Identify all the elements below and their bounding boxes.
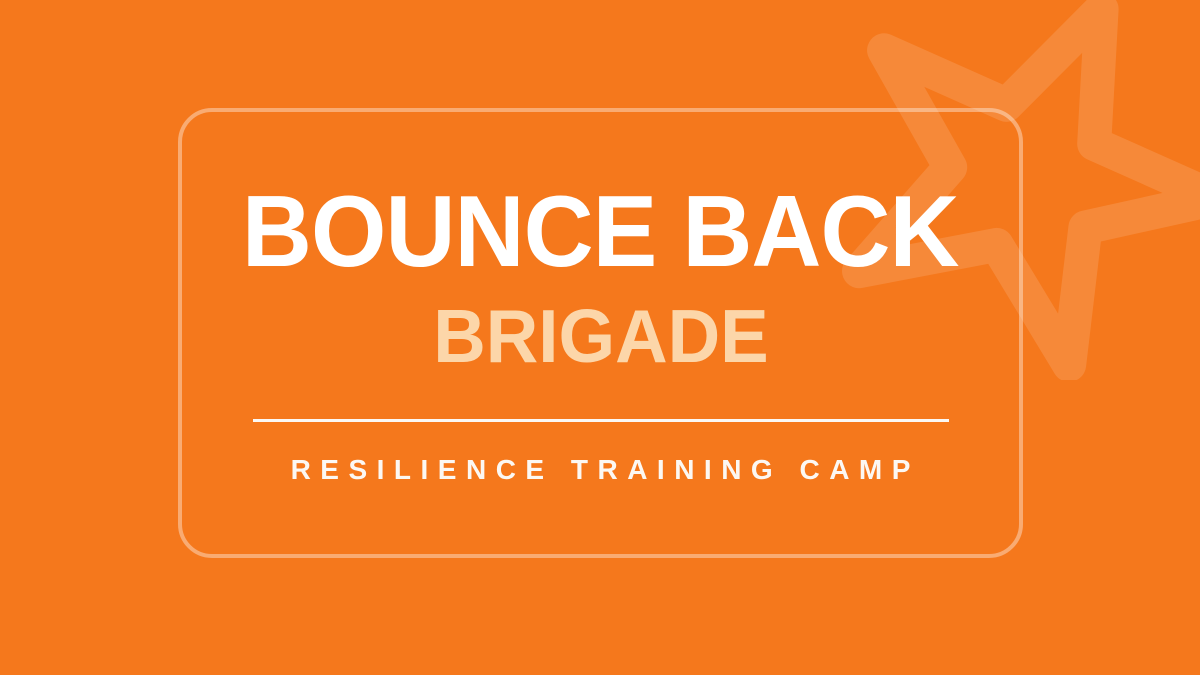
- poster-content: BOUNCE BACK BRIGADE RESILIENCE TRAINING …: [178, 108, 1023, 558]
- title-divider: [253, 419, 949, 422]
- page-subtitle: BRIGADE: [433, 299, 768, 374]
- poster-canvas: BOUNCE BACK BRIGADE RESILIENCE TRAINING …: [0, 0, 1200, 675]
- page-tagline: RESILIENCE TRAINING CAMP: [281, 456, 920, 484]
- page-title: BOUNCE BACK: [242, 182, 959, 283]
